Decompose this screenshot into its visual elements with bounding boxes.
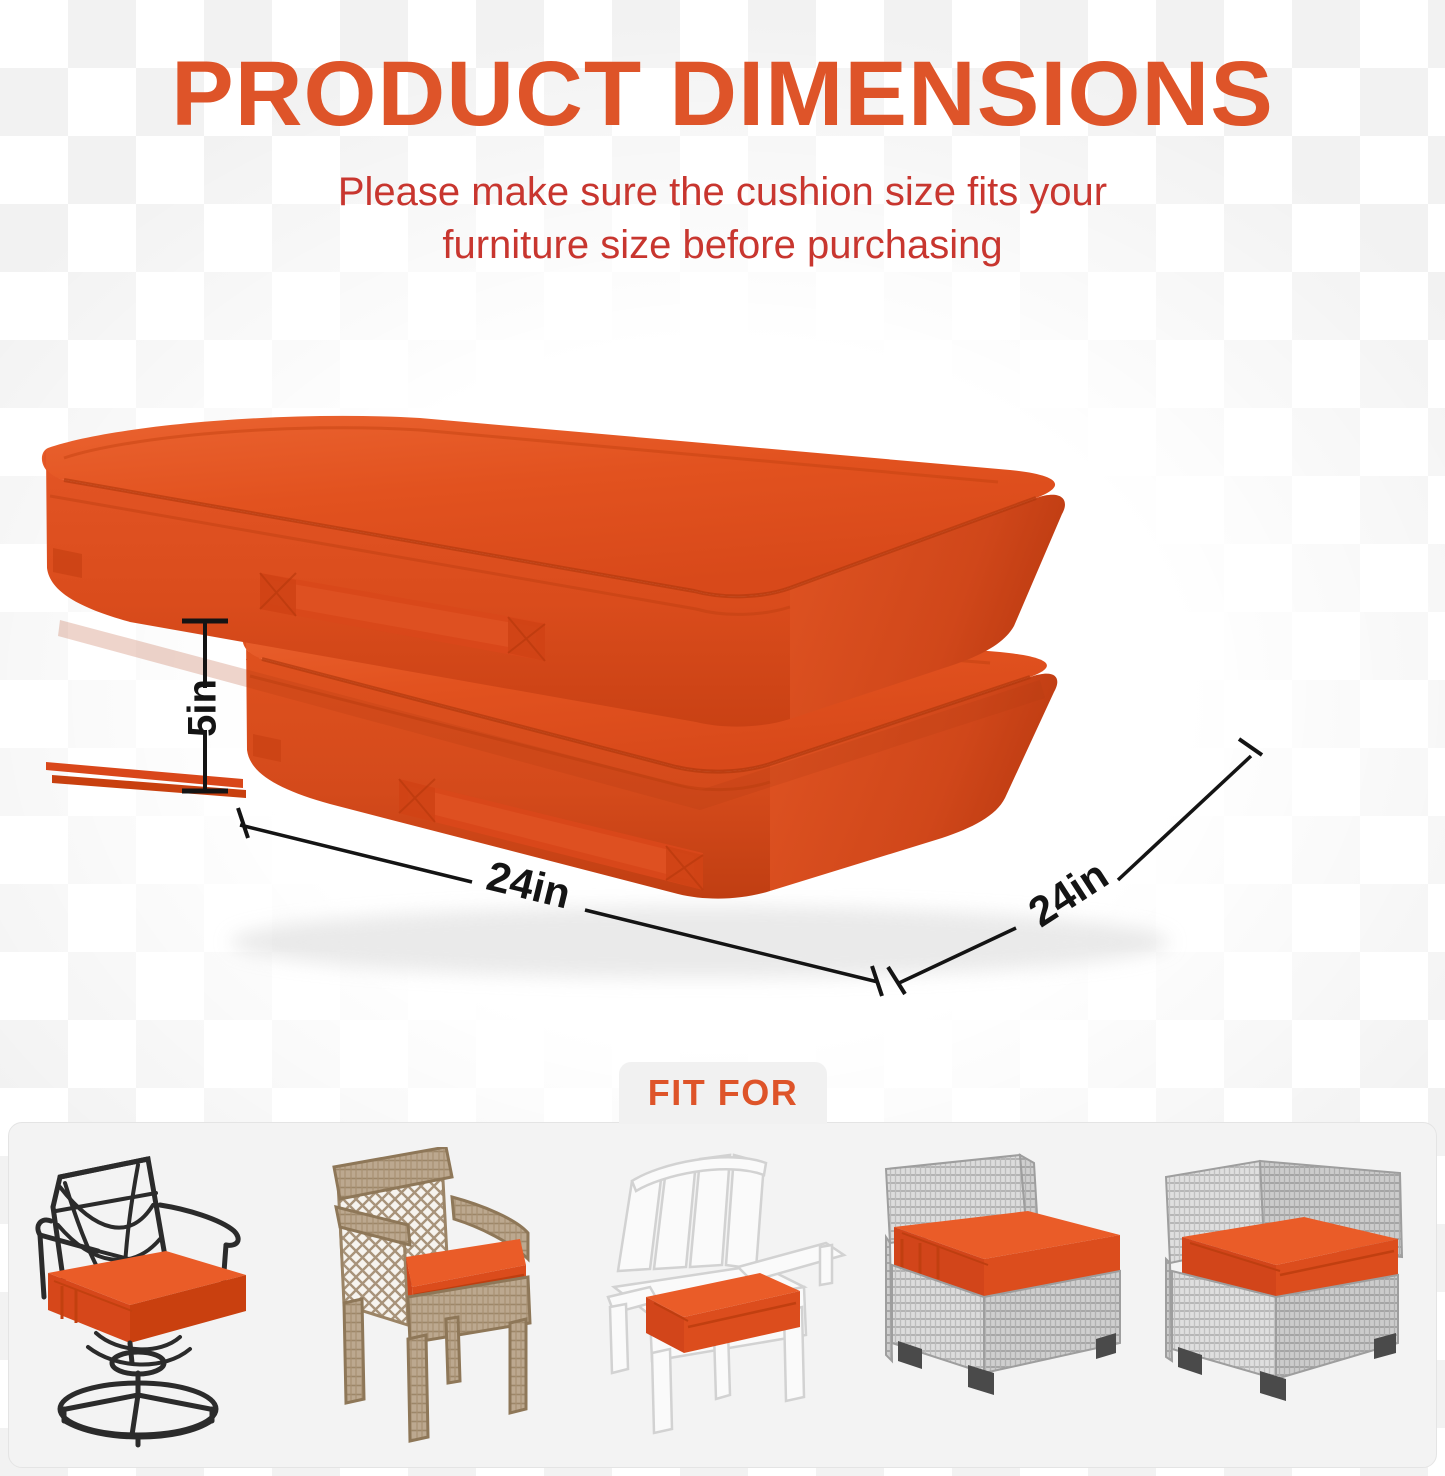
- dimension-height-5in: 5in: [181, 620, 228, 792]
- swivel-chair-cushion: [48, 1251, 246, 1343]
- subtitle-line-1: Please make sure the cushion size fits y…: [0, 166, 1445, 219]
- furniture-item-armless-sectional-middle: armless-sectional-middle: [865, 1137, 1148, 1467]
- fit-for-panel: swivel-dining-chair: [8, 1122, 1437, 1468]
- cushion-dimension-diagram: 5in 24in 24in: [0, 330, 1445, 1030]
- wicker-arm-chair-icon: [304, 1147, 574, 1467]
- swivel-dining-chair-icon: [20, 1147, 290, 1467]
- furniture-item-adirondack-chair: adirondack-chair: [581, 1137, 864, 1467]
- page-title: PRODUCT DIMENSIONS: [0, 48, 1445, 140]
- header: PRODUCT DIMENSIONS Please make sure the …: [0, 0, 1445, 272]
- page-subtitle: Please make sure the cushion size fits y…: [0, 166, 1445, 272]
- product-ground-shadow: [230, 906, 1170, 978]
- adirondack-chair-icon: [588, 1147, 858, 1467]
- armless-sectional-middle-icon: [868, 1147, 1146, 1467]
- dimension-height-label: 5in: [181, 679, 225, 737]
- furniture-item-swivel-dining-chair: swivel-dining-chair: [13, 1137, 296, 1467]
- furniture-item-corner-sectional-chair: corner-sectional-chair: [1149, 1137, 1432, 1467]
- subtitle-line-2: furniture size before purchasing: [0, 219, 1445, 272]
- fit-for-tab: FIT FOR: [619, 1062, 827, 1124]
- furniture-item-wicker-arm-chair: wicker-arm-chair: [297, 1137, 580, 1467]
- fit-for-label: FIT FOR: [648, 1072, 798, 1114]
- corner-sectional-chair-icon: [1152, 1147, 1430, 1467]
- product-illustration: 5in 24in 24in: [0, 330, 1445, 1030]
